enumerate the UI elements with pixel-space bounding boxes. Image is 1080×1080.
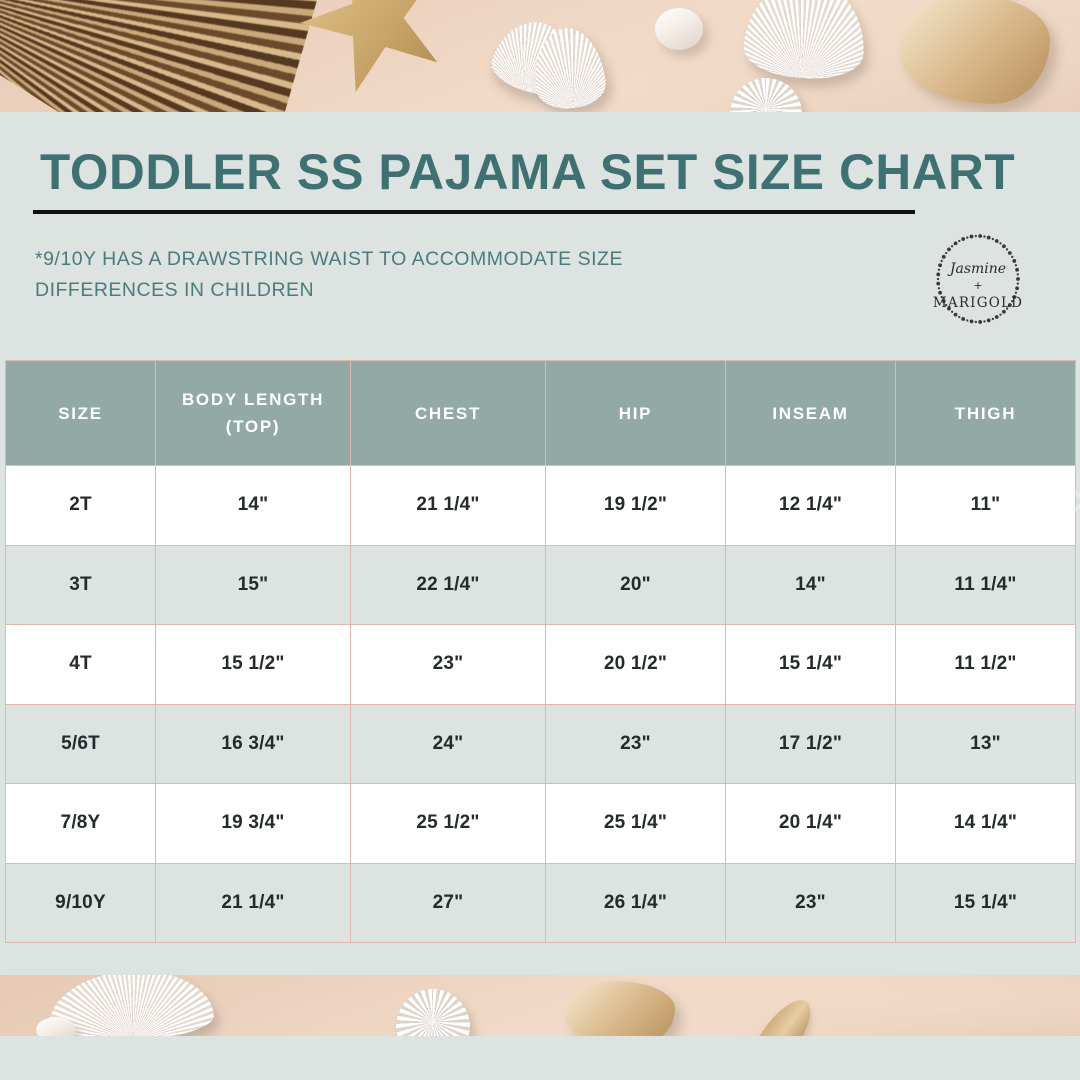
- cell-hip: 19 1/2": [546, 466, 726, 546]
- title-divider: [33, 210, 915, 214]
- column-header-label: CHEST: [415, 404, 481, 423]
- cell-thigh: 11 1/4": [896, 545, 1076, 625]
- cell-inseam: 12 1/4": [726, 466, 896, 546]
- column-header-label: INSEAM: [772, 404, 848, 423]
- cell-size: 3T: [6, 545, 156, 625]
- cell-size: 2T: [6, 466, 156, 546]
- column-header-label: THIGH: [955, 404, 1016, 423]
- cell-hip: 23": [546, 704, 726, 784]
- cell-hip: 20": [546, 545, 726, 625]
- table-row: 4T 15 1/2" 23" 20 1/2" 15 1/4" 11 1/2": [6, 625, 1076, 705]
- cell-thigh: 11 1/2": [896, 625, 1076, 705]
- table-row: 9/10Y 21 1/4" 27" 26 1/4" 23" 15 1/4": [6, 863, 1076, 943]
- carousel-next-arrow[interactable]: [1067, 488, 1080, 514]
- cell-chest: 25 1/2": [351, 784, 546, 864]
- dried-palm-leaf: [0, 0, 333, 112]
- cell-thigh: 15 1/4": [896, 863, 1076, 943]
- brand-script-name: Jasmine: [947, 261, 1006, 277]
- cell-thigh: 11": [896, 466, 1076, 546]
- pebble-shell: [655, 8, 703, 50]
- cell-inseam: 23": [726, 863, 896, 943]
- brand-plus: +: [973, 279, 982, 292]
- cell-size: 5/6T: [6, 704, 156, 784]
- cell-inseam: 20 1/4": [726, 784, 896, 864]
- table-header-row: SIZE BODY LENGTH (TOP) CHEST HIP INSEAM …: [6, 361, 1076, 466]
- cell-hip: 26 1/4": [546, 863, 726, 943]
- cell-thigh: 14 1/4": [896, 784, 1076, 864]
- brand-caps-name: MARIGOLD: [933, 295, 1023, 311]
- size-chart-page: TODDLER SS PAJAMA SET SIZE CHART *9/10Y …: [0, 0, 1080, 1080]
- column-header-label: BODY LENGTH: [182, 390, 324, 409]
- cell-body-length: 21 1/4": [156, 863, 351, 943]
- drawstring-note: *9/10Y HAS A DRAWSTRING WAIST TO ACCOMMO…: [35, 244, 675, 306]
- table-row: 5/6T 16 3/4" 24" 23" 17 1/2" 13": [6, 704, 1076, 784]
- cell-size: 4T: [6, 625, 156, 705]
- brand-logo: Jasmine + MARIGOLD: [928, 225, 1028, 333]
- table-row: 2T 14" 21 1/4" 19 1/2" 12 1/4" 11": [6, 466, 1076, 546]
- cell-inseam: 15 1/4": [726, 625, 896, 705]
- column-header-chest: CHEST: [351, 361, 546, 466]
- bottom-beach-photo-band: [0, 975, 1080, 1036]
- cell-chest: 21 1/4": [351, 466, 546, 546]
- column-header-size: SIZE: [6, 361, 156, 466]
- header-block: TODDLER SS PAJAMA SET SIZE CHART *9/10Y …: [0, 112, 1080, 352]
- cell-body-length: 16 3/4": [156, 704, 351, 784]
- cell-chest: 23": [351, 625, 546, 705]
- table-row: 3T 15" 22 1/4" 20" 14" 11 1/4": [6, 545, 1076, 625]
- size-chart-table: SIZE BODY LENGTH (TOP) CHEST HIP INSEAM …: [5, 360, 1076, 943]
- cell-hip: 25 1/4": [546, 784, 726, 864]
- cell-inseam: 17 1/2": [726, 704, 896, 784]
- small-shell: [36, 1017, 76, 1036]
- cell-chest: 22 1/4": [351, 545, 546, 625]
- cell-thigh: 13": [896, 704, 1076, 784]
- cell-body-length: 15": [156, 545, 351, 625]
- cell-inseam: 14": [726, 545, 896, 625]
- cell-body-length: 15 1/2": [156, 625, 351, 705]
- rough-shell: [565, 981, 675, 1036]
- table-row: 7/8Y 19 3/4" 25 1/2" 25 1/4" 20 1/4" 14 …: [6, 784, 1076, 864]
- column-header-body-length: BODY LENGTH (TOP): [156, 361, 351, 466]
- column-header-thigh: THIGH: [896, 361, 1076, 466]
- cell-body-length: 14": [156, 466, 351, 546]
- cell-size: 7/8Y: [6, 784, 156, 864]
- page-title: TODDLER SS PAJAMA SET SIZE CHART: [40, 143, 1015, 201]
- column-header-inseam: INSEAM: [726, 361, 896, 466]
- cell-size: 9/10Y: [6, 863, 156, 943]
- cell-body-length: 19 3/4": [156, 784, 351, 864]
- cell-chest: 24": [351, 704, 546, 784]
- cell-hip: 20 1/2": [546, 625, 726, 705]
- top-beach-photo-band: [0, 0, 1080, 112]
- chevron-right-icon: [1075, 492, 1080, 510]
- cell-chest: 27": [351, 863, 546, 943]
- column-header-sublabel: (TOP): [226, 417, 280, 436]
- column-header-hip: HIP: [546, 361, 726, 466]
- column-header-label: SIZE: [58, 404, 103, 423]
- column-header-label: HIP: [619, 404, 652, 423]
